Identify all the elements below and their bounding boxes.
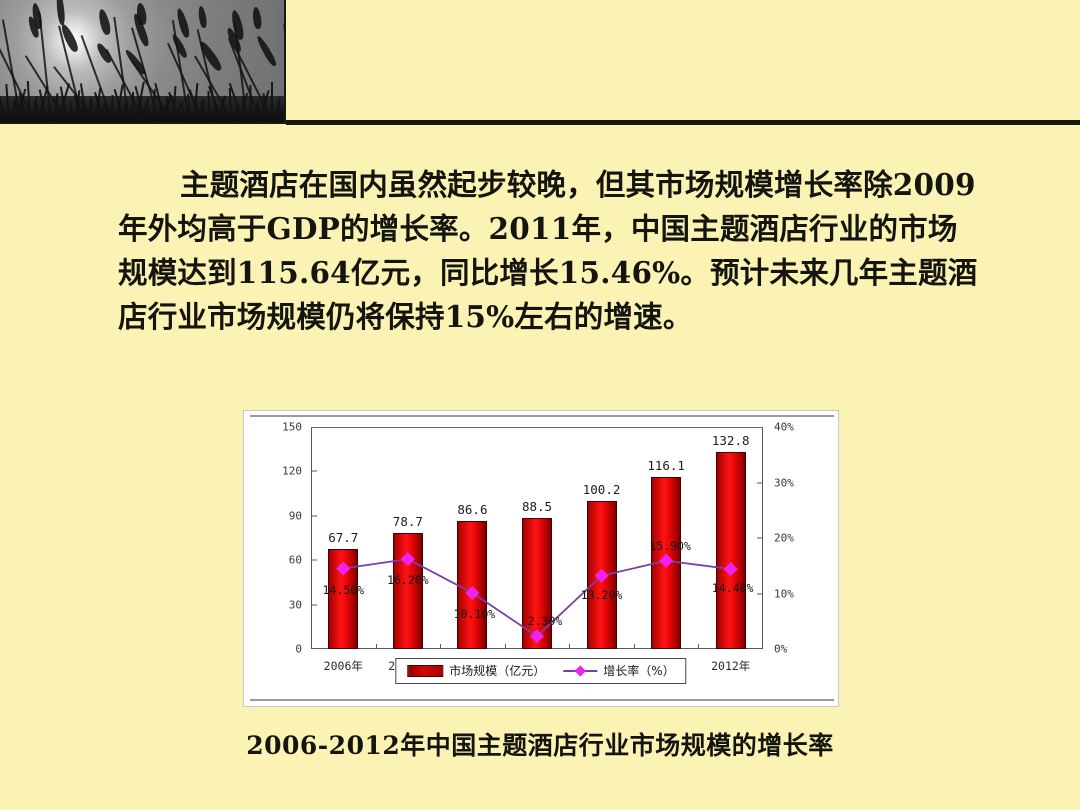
chart-line-value-label: 13.20% bbox=[581, 588, 623, 602]
x-axis-tick-mark bbox=[569, 644, 570, 649]
chart-line-value-label: 10.10% bbox=[454, 607, 496, 621]
chart-line-value-label: 14.40% bbox=[712, 581, 754, 595]
chart-line-value-label: 16.20% bbox=[387, 573, 429, 587]
chart-line-marker bbox=[336, 561, 350, 575]
y-axis-right-tick-label: 0% bbox=[774, 643, 787, 656]
chart-line-marker bbox=[401, 552, 415, 566]
chart-top-rule bbox=[250, 415, 834, 417]
x-axis-tick-mark bbox=[376, 644, 377, 649]
chart-line-marker bbox=[465, 586, 479, 600]
y-axis-left-tick-label: 120 bbox=[282, 465, 302, 478]
legend-bar-swatch-icon bbox=[407, 665, 443, 677]
chart-line-value-label: 2.30% bbox=[528, 614, 563, 628]
chart-legend: 市场规模（亿元） 增长率（%） bbox=[395, 658, 686, 684]
y-axis-right-tick-label: 10% bbox=[774, 587, 794, 600]
wheat-grass-blade bbox=[111, 95, 113, 122]
y-axis-left-tick-label: 150 bbox=[282, 421, 302, 434]
y-axis-left-tick-label: 60 bbox=[289, 554, 302, 567]
chart-line-marker bbox=[724, 562, 738, 576]
wheat-grass-blade bbox=[271, 82, 273, 122]
y-axis-right-tick-label: 30% bbox=[774, 476, 794, 489]
chart-line-marker bbox=[659, 554, 673, 568]
chart-line-value-label: 15.90% bbox=[649, 539, 691, 553]
header-divider-rule bbox=[286, 120, 1080, 125]
legend-label-line: 增长率（%） bbox=[603, 662, 674, 679]
chart-line-value-label: 14.50% bbox=[323, 583, 365, 597]
chart-bottom-rule bbox=[250, 699, 834, 701]
wheat-grass-blade bbox=[69, 101, 71, 122]
wheat-grass-blade bbox=[90, 98, 92, 122]
y-axis-left-tick-label: 30 bbox=[289, 598, 302, 611]
y-axis-right-tick-label: 40% bbox=[774, 421, 794, 434]
x-axis-tick-mark bbox=[698, 644, 699, 649]
legend-item-bar: 市场规模（亿元） bbox=[407, 662, 545, 679]
chart-container: 0306090120150 0%10%20%30%40% 67.778.786.… bbox=[243, 410, 839, 707]
chart-plot-area: 0306090120150 0%10%20%30%40% 67.778.786.… bbox=[311, 427, 763, 649]
header-photo bbox=[0, 0, 286, 124]
x-axis-tick-mark bbox=[634, 644, 635, 649]
x-axis-tick-mark bbox=[505, 644, 506, 649]
legend-label-bar: 市场规模（亿元） bbox=[449, 662, 545, 679]
x-axis-tick-mark bbox=[440, 644, 441, 649]
legend-item-line: 增长率（%） bbox=[563, 662, 674, 679]
y-axis-left-tick-label: 0 bbox=[295, 643, 302, 656]
slide-header-band bbox=[0, 0, 1080, 126]
x-axis-tick-label: 2006年 bbox=[324, 658, 363, 674]
y-axis-left-tick-label: 90 bbox=[289, 509, 302, 522]
legend-line-swatch-icon bbox=[563, 666, 597, 676]
x-axis-tick-label: 2012年 bbox=[711, 658, 750, 674]
body-paragraph: 主题酒店在国内虽然起步较晚，但其市场规模增长率除2009年外均高于GDP的增长率… bbox=[118, 163, 978, 339]
figure-caption: 2006-2012年中国主题酒店行业市场规模的增长率 bbox=[0, 726, 1080, 762]
y-axis-right-tick-label: 20% bbox=[774, 532, 794, 545]
